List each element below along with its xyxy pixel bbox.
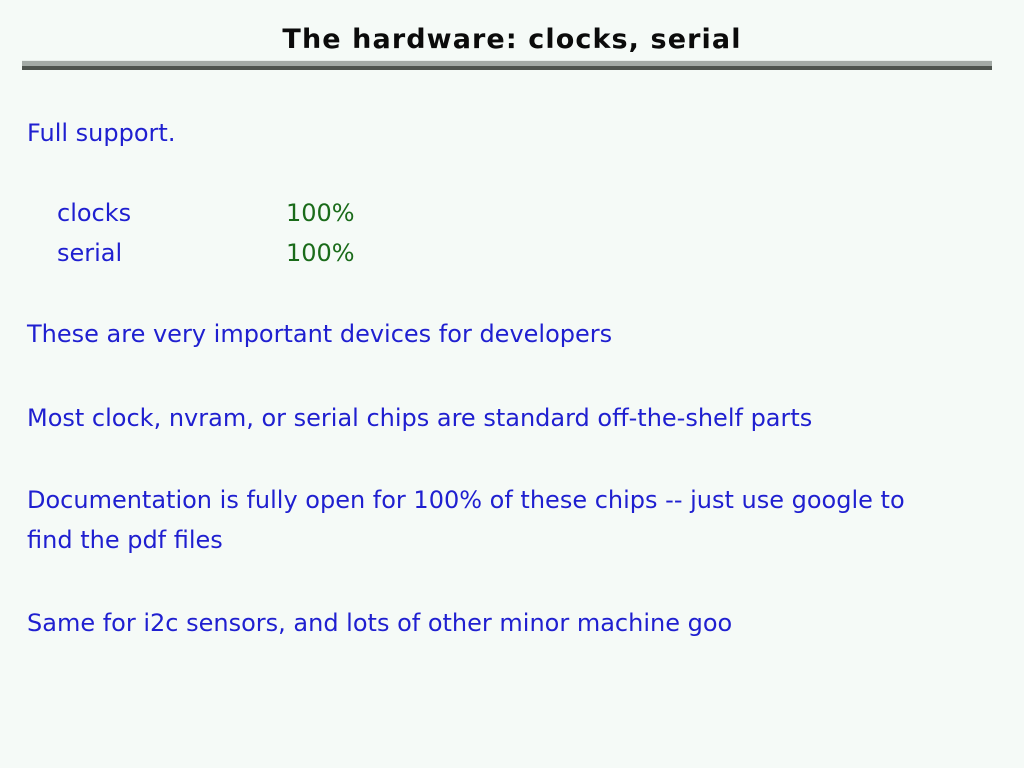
paragraph-devices: These are very important devices for dev… (27, 314, 612, 354)
rule-dark-band (22, 66, 992, 70)
lead-statement: Full support. (27, 113, 175, 153)
support-item-percent: 100% (286, 233, 355, 273)
support-item-percent: 100% (286, 193, 355, 233)
presentation-slide: The hardware: clocks, serial Full suppor… (0, 0, 1024, 768)
title-divider-rule (22, 60, 992, 70)
paragraph-documentation: Documentation is fully open for 100% of … (27, 480, 947, 560)
paragraph-sensors: Same for i2c sensors, and lots of other … (27, 603, 732, 643)
table-row: clocks 100% (57, 193, 355, 233)
paragraph-chips: Most clock, nvram, or serial chips are s… (27, 398, 812, 438)
support-status-table: clocks 100% serial 100% (57, 193, 355, 273)
page-title: The hardware: clocks, serial (0, 24, 1024, 55)
table-row: serial 100% (57, 233, 355, 273)
support-item-name: serial (57, 233, 286, 273)
support-item-name: clocks (57, 193, 286, 233)
